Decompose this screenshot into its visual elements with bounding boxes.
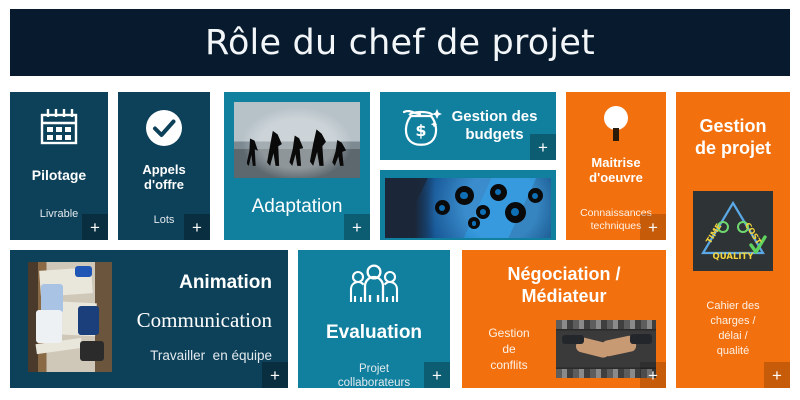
card-title: Maitrise d'oeuvre [589,156,643,185]
card-subtitle-line1: Gestion [488,326,529,340]
card-subtitle: Livrable [40,208,79,221]
expand-plus-button[interactable]: + [640,214,666,240]
card-gestion-budgets[interactable]: $ Gestion des budgets + [380,92,556,160]
lightbulb-icon [599,104,633,144]
card-subtitle-line3: conflits [490,358,527,372]
card-gestion-projet[interactable]: Gestion de projet TIME COST QUALITY Cahi… [676,92,790,388]
card-animation[interactable]: Animation Communication Travailler en éq… [10,250,288,388]
expand-plus-button[interactable]: + [764,362,790,388]
tablet-gears-technology-photo [385,178,551,238]
expand-plus-button[interactable]: + [262,362,288,388]
card-maitrise-oeuvre[interactable]: Maitrise d'oeuvre Connaissances techniqu… [566,92,666,240]
money-bag-icon: $ [399,103,443,149]
card-title-line1: Gestion [699,116,766,136]
project-triangle-chalkboard-photo: TIME COST QUALITY [693,191,773,271]
check-circle-icon [145,109,183,147]
card-subtitle: Travailler en équipe [150,348,272,364]
card-title: Animation [179,272,272,293]
card-subtitle-line3: délai / [718,330,747,342]
card-subtitle-line4: qualité [717,345,749,357]
card-title: Appels d'offre [142,163,185,192]
card-title-line2: d'offre [144,177,184,192]
card-title: Négociation / Médiateur [507,264,620,308]
card-title-line1: Maitrise [591,155,640,170]
card-title-line1: Appels [142,162,185,177]
card-negociation-mediateur[interactable]: Négociation / Médiateur Gestion de confl… [462,250,666,388]
card-subtitle-line2: collaborateurs [338,377,410,388]
card-subtitle: Projet collaborateurs [338,363,410,388]
dancing-silhouettes-photo [234,102,360,178]
card-title: Pilotage [32,168,86,184]
expand-plus-button[interactable]: + [344,214,370,240]
page-title-banner: Rôle du chef de projet [10,9,790,76]
card-title: Evaluation [326,322,422,343]
svg-text:$: $ [415,121,426,140]
card-title-line1: Négociation / [507,264,620,284]
expand-plus-button[interactable]: + [640,362,666,388]
card-appels-offre[interactable]: Appels d'offre Lots + [118,92,210,240]
card-evaluation[interactable]: Evaluation Projet collaborateurs + [298,250,450,388]
triangle-label-quality: QUALITY [713,252,754,262]
card-tech-photo[interactable] [380,170,556,240]
card-title-line2: budgets [465,126,523,143]
people-group-icon [348,264,400,304]
expand-plus-button[interactable]: + [530,134,556,160]
card-subtitle-line2: techniques [591,220,642,232]
page-title: Rôle du chef de projet [205,23,595,63]
card-subtitle-line1: Cahier des [706,300,759,312]
card-subtitle: Cahier des charges / délai / qualité [706,299,759,358]
card-secondary-title: Communication [137,308,272,333]
card-title: Gestion des budgets [452,108,538,143]
card-subtitle-line2: charges / [710,315,755,327]
card-title-line2: Médiateur [521,286,606,306]
card-title-line2: d'oeuvre [589,170,643,185]
card-title-line1: Gestion des [452,108,538,125]
expand-plus-button[interactable]: + [82,214,108,240]
card-subtitle: Lots [154,214,175,227]
card-title: Gestion de projet [695,116,771,159]
card-title: Adaptation [252,196,343,217]
expand-plus-button[interactable]: + [424,362,450,388]
card-subtitle-line2: de [502,342,515,356]
card-adaptation[interactable]: Adaptation + [224,92,370,240]
card-title-line2: de projet [695,138,771,158]
card-subtitle-line1: Projet [359,363,389,375]
team-blueprint-meeting-photo [28,262,112,372]
calendar-icon [38,108,80,146]
card-subtitle: Gestion de conflits [472,325,546,374]
infographic-board: Rôle du chef de projet Pilotage Livrable… [0,0,800,400]
card-pilotage[interactable]: Pilotage Livrable + [10,92,108,240]
expand-plus-button[interactable]: + [184,214,210,240]
